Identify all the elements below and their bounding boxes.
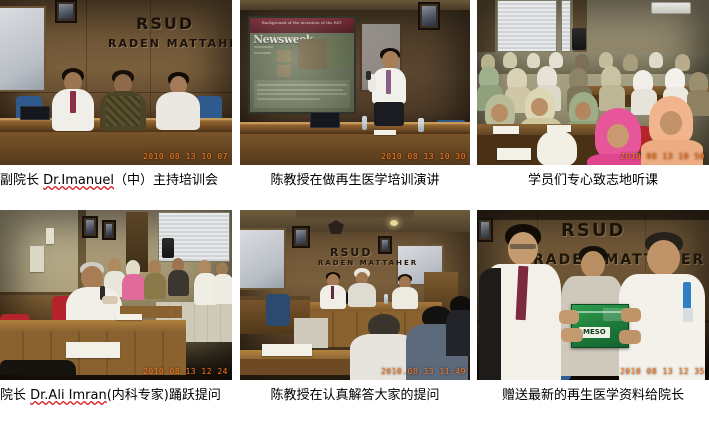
photo-cell-6: RSUD RADEN MATTAHER (477, 210, 709, 405)
photo-4[interactable]: 2010 08 13 12 24 (0, 210, 232, 380)
photo-caption-3: 学员们专心致志地听课 (477, 165, 709, 190)
caption-part-misspelled: Dr.Ali Imran (30, 388, 107, 403)
seated-person-middle (100, 70, 146, 130)
caption-part-text: 陈教授在做再生医学培训演讲 (270, 173, 439, 188)
photo-cell-1: RSUD RADEN MATTAHER (0, 0, 232, 190)
caption-part-text: 学员们专心致志地听课 (528, 173, 658, 188)
caption-part-text: （中）主持培训会 (114, 173, 218, 188)
photo-6[interactable]: RSUD RADEN MATTAHER (477, 210, 709, 380)
seated-person-left (52, 68, 94, 130)
wall-sign-rsud: RSUD (561, 220, 625, 241)
caption-part-text: 副院长 (0, 173, 43, 188)
photo-caption-1: 副院长 Dr.Imanuel（中）主持培训会 (0, 165, 232, 190)
wall-sign-raden-mattaher: RADEN MATTAHER (318, 259, 418, 267)
whiteboard (0, 6, 46, 92)
caption-part-text: 陈教授在认真解答大家的提问 (270, 388, 439, 403)
photo-timestamp: 2010 08 13 12 24 (143, 367, 228, 376)
photo-timestamp: 2010 08 13 10 30 (381, 152, 466, 161)
photo-caption-4: 院长 Dr.Ali Imran(内科专家)踊跃提问 (0, 380, 232, 405)
projector-screen: Background of the invention of the RST N… (248, 16, 356, 114)
folder-label: MESO (579, 327, 610, 338)
caption-part-text: 院长 (0, 388, 30, 403)
photo-timestamp: 2010 08 13 10 50 (620, 152, 705, 161)
seated-person-right (156, 72, 200, 130)
photo-timestamp: 2010.08.13 11:49 (381, 367, 466, 376)
photo-3[interactable]: 2010 08 13 10 50 (477, 0, 709, 165)
presenter (370, 48, 408, 124)
photo-cell-2: Background of the invention of the RST N… (240, 0, 470, 190)
caption-part-text: (内科专家)踊跃提问 (107, 388, 221, 403)
photo-caption-2: 陈教授在做再生医学培训演讲 (240, 165, 470, 190)
man-left (483, 224, 561, 380)
photo-2[interactable]: Background of the invention of the RST N… (240, 0, 470, 165)
photo-timestamp: 2010 08 13 10 07 (143, 152, 228, 161)
photo-timestamp: 2010 08 13 12 35 (620, 367, 705, 376)
portrait-frame (55, 0, 77, 23)
photo-caption-5: 陈教授在认真解答大家的提问 (240, 380, 470, 405)
photo-caption-6: 赠送最新的再生医学资料给院长 (477, 380, 709, 405)
caption-part-text: 赠送最新的再生医学资料给院长 (502, 388, 684, 403)
wall-sign-rsud: RSUD (330, 246, 372, 259)
photo-cell-3: 2010 08 13 10 50 学员们专心致志地听课 (477, 0, 709, 190)
photo-5[interactable]: RSUD RADEN MATTAHER (240, 210, 470, 380)
photo-cell-5: RSUD RADEN MATTAHER (240, 210, 470, 405)
photo-report-page: RSUD RADEN MATTAHER (0, 0, 709, 423)
photo-cell-4: 2010 08 13 12 24 院长 Dr.Ali Imran(内科专家)踊跃… (0, 210, 232, 405)
man-right (619, 232, 705, 380)
photo-1[interactable]: RSUD RADEN MATTAHER (0, 0, 232, 165)
wall-sign-raden-mattaher: RADEN MATTAHER (108, 37, 232, 50)
wall-sign-rsud: RSUD (136, 14, 194, 33)
caption-part-misspelled: Dr.Imanuel (43, 173, 114, 188)
